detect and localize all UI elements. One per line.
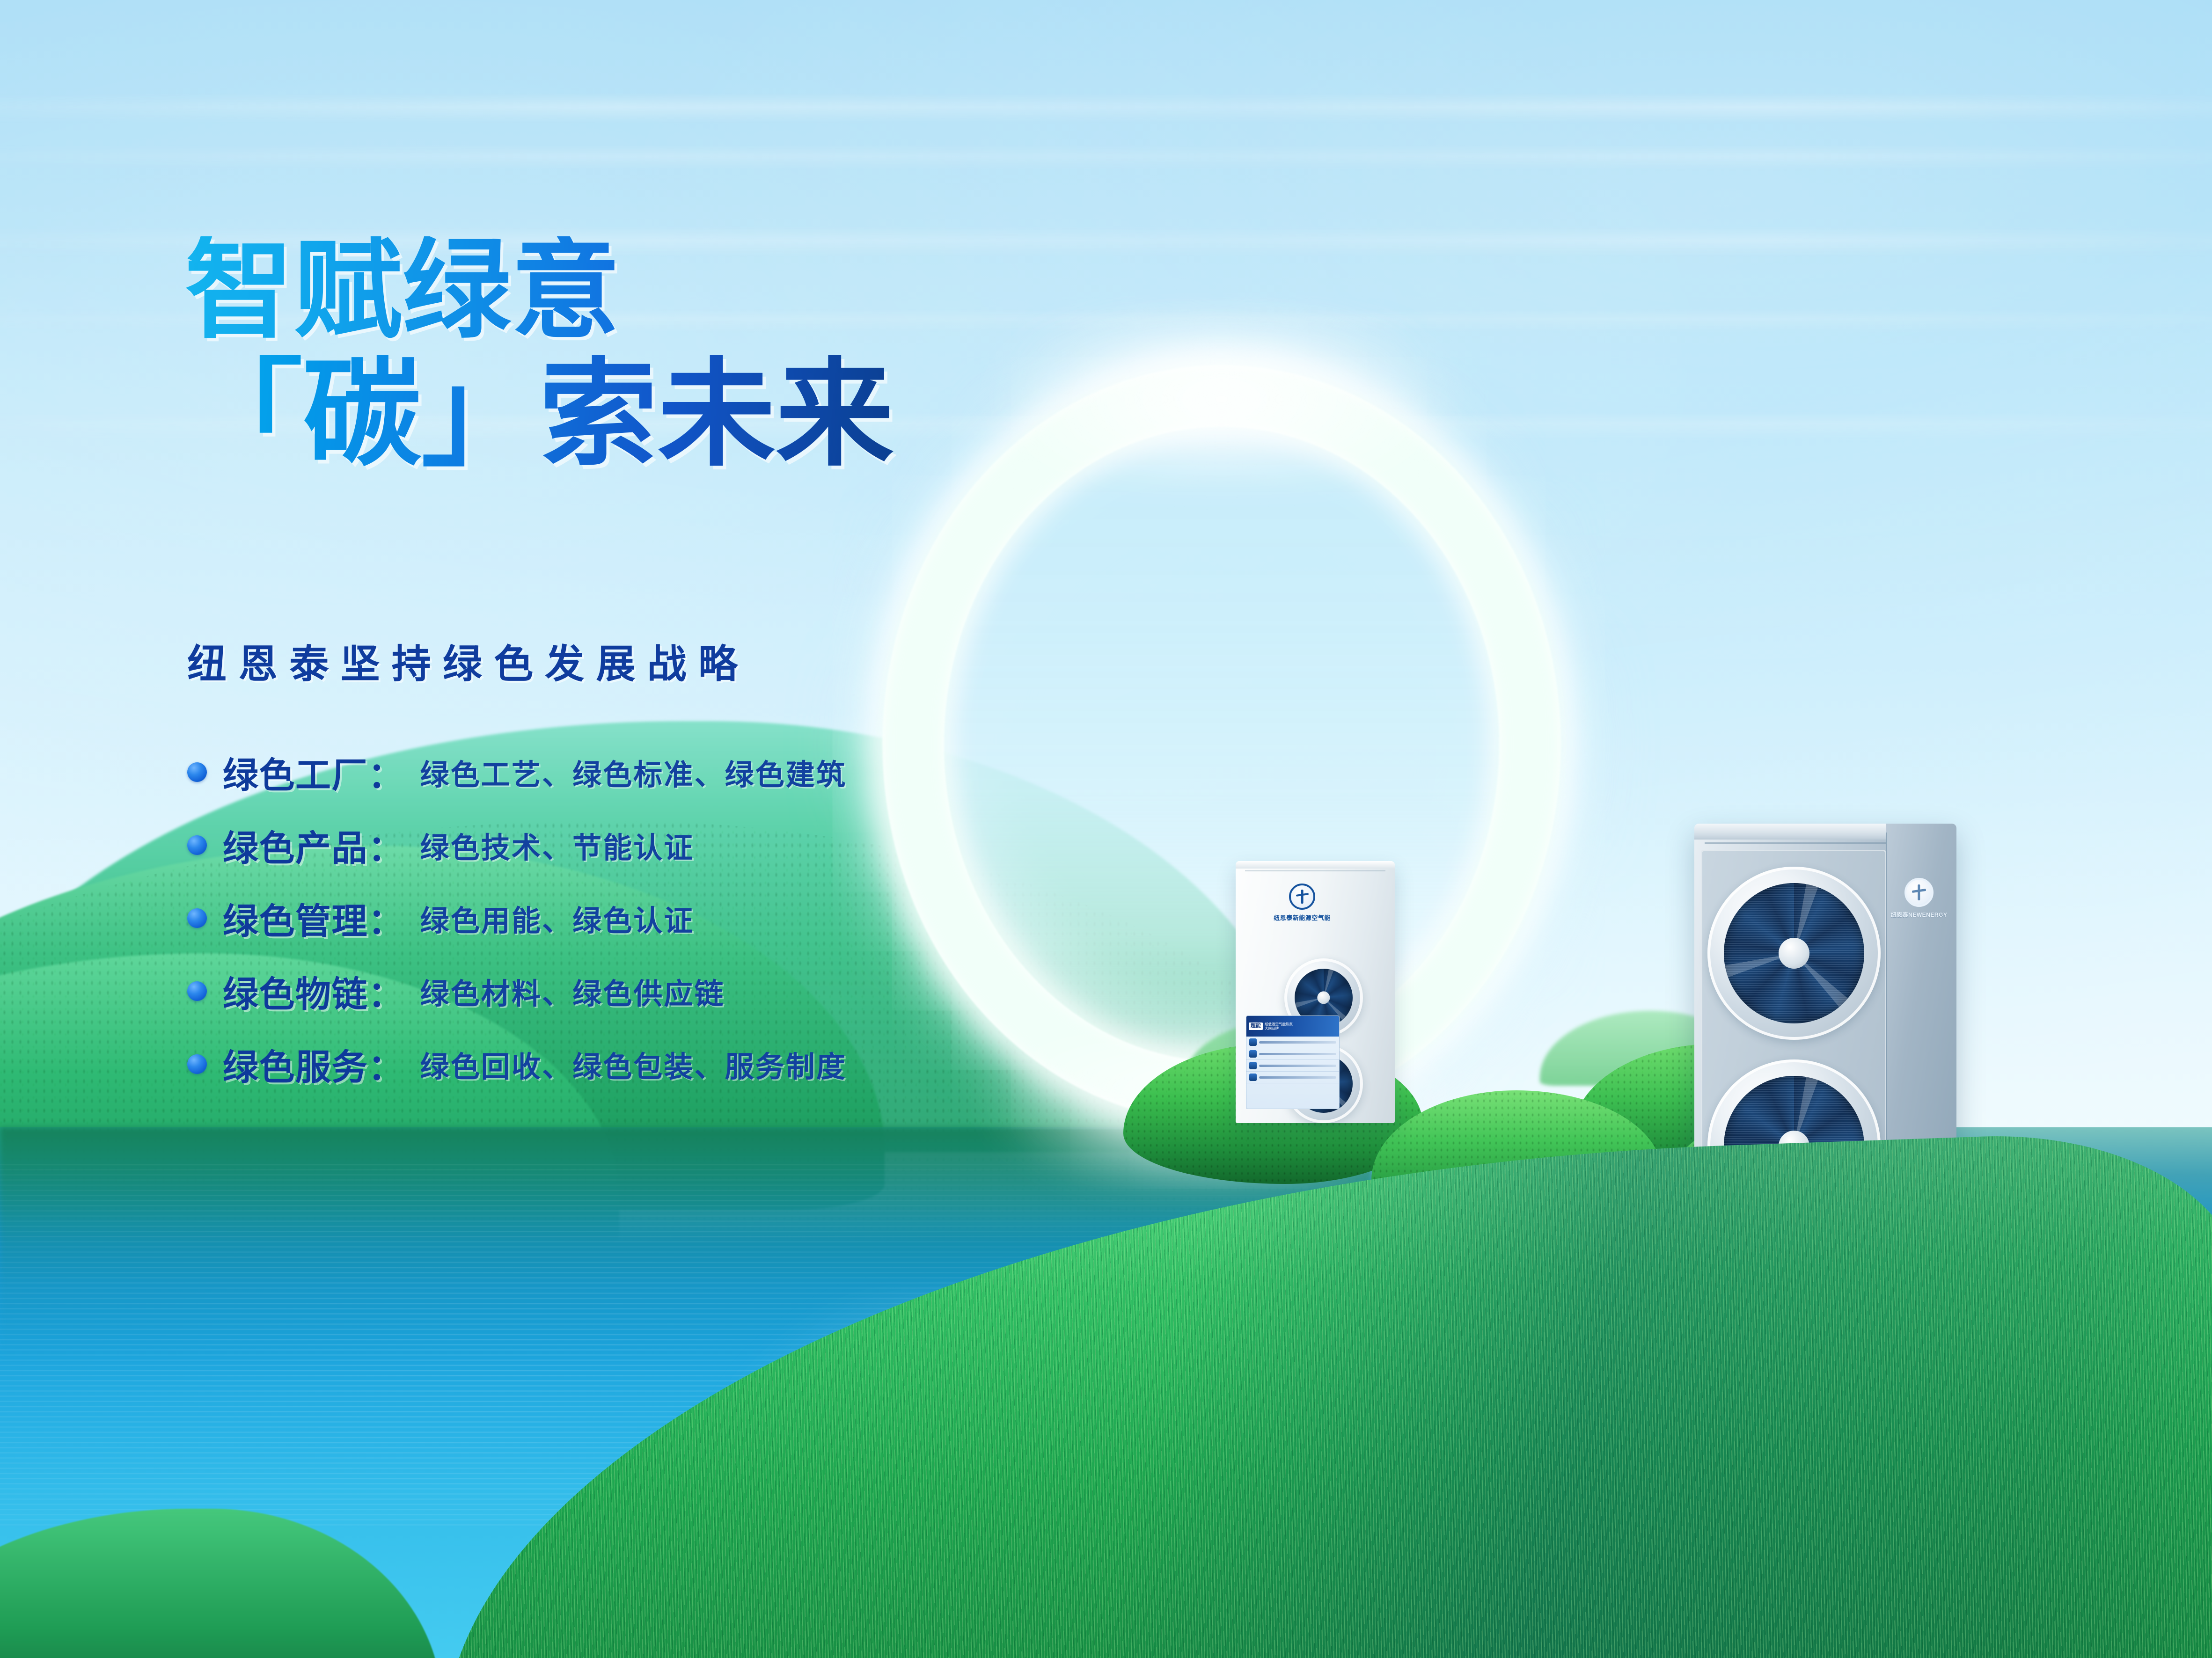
- list-item: 绿色物链： 绿色材料、绿色供应链: [187, 965, 847, 1017]
- headline-block: 智赋绿意 「碳」索未来: [185, 236, 894, 473]
- list-item: 绿色产品： 绿色技术、节能认证: [187, 819, 847, 871]
- filled-circle-icon: [187, 762, 207, 782]
- list-item-desc: 绿色工艺、绿色标准、绿色建筑: [420, 751, 847, 793]
- list-item-desc: 绿色回收、绿色包装、服务制度: [420, 1043, 847, 1085]
- list-item-desc: 绿色技术、节能认证: [420, 824, 695, 866]
- filled-circle-icon: [187, 1054, 207, 1074]
- list-item-desc: 绿色用能、绿色认证: [420, 897, 695, 939]
- poster-canvas: 纽恩泰新能源空气能 超能 超低温空气能热泵 大国品牌: [0, 0, 2212, 1658]
- filled-circle-icon: [187, 835, 207, 855]
- list-item-label: 绿色物链：: [223, 965, 404, 1017]
- list-item: 绿色管理： 绿色用能、绿色认证: [187, 892, 847, 944]
- list-item-label: 绿色产品：: [223, 819, 404, 871]
- list-item-label: 绿色服务：: [223, 1038, 404, 1090]
- text-content-layer: 智赋绿意 「碳」索未来 纽恩泰坚持绿色发展战略 绿色工厂： 绿色工艺、绿色标准、…: [0, 0, 2212, 1658]
- list-item: 绿色服务： 绿色回收、绿色包装、服务制度: [187, 1038, 847, 1090]
- list-item-label: 绿色管理：: [223, 892, 404, 944]
- list-item-label: 绿色工厂：: [223, 746, 404, 798]
- list-item-desc: 绿色材料、绿色供应链: [420, 970, 725, 1012]
- green-strategy-list: 绿色工厂： 绿色工艺、绿色标准、绿色建筑 绿色产品： 绿色技术、节能认证 绿色管…: [187, 746, 847, 1090]
- filled-circle-icon: [187, 981, 207, 1001]
- headline-line-1: 智赋绿意: [185, 236, 894, 345]
- filled-circle-icon: [187, 908, 207, 928]
- subtitle: 纽恩泰坚持绿色发展战略: [187, 633, 749, 689]
- list-item: 绿色工厂： 绿色工艺、绿色标准、绿色建筑: [187, 746, 847, 798]
- headline-line-2: 「碳」索未来: [185, 355, 894, 473]
